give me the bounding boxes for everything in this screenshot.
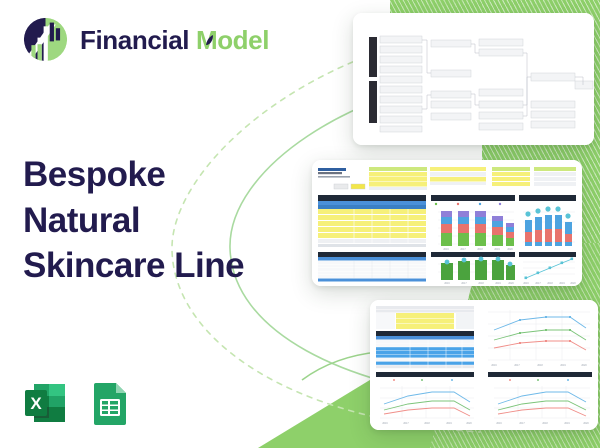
- brand-name-part1: Financial: [80, 25, 189, 55]
- page-title-line3: Skincare Line: [23, 243, 283, 289]
- svg-text:2017: 2017: [460, 248, 466, 251]
- svg-text:2018: 2018: [478, 282, 484, 285]
- svg-text:2016: 2016: [444, 282, 450, 285]
- svg-text:2017: 2017: [535, 282, 541, 285]
- svg-text:2016: 2016: [443, 248, 449, 251]
- page-title-line1: Bespoke: [23, 152, 283, 198]
- filetype-icons: X: [21, 379, 134, 427]
- dupont-flowchart-card[interactable]: [353, 13, 594, 145]
- dashboard-thumbnail: 20162017 201820192020: [312, 160, 582, 286]
- svg-text:2019: 2019: [560, 364, 566, 367]
- svg-text:2016: 2016: [496, 422, 502, 425]
- google-sheets-icon[interactable]: [86, 379, 134, 427]
- charts-thumbnail: 20162017 201820192020: [370, 300, 598, 430]
- svg-text:2020: 2020: [508, 282, 514, 285]
- svg-text:2019: 2019: [564, 422, 570, 425]
- svg-text:2018: 2018: [547, 282, 553, 285]
- svg-text:2020: 2020: [570, 282, 576, 285]
- svg-text:2016: 2016: [491, 364, 497, 367]
- svg-text:2018: 2018: [477, 248, 483, 251]
- svg-text:2020: 2020: [466, 422, 472, 425]
- svg-text:2017: 2017: [461, 282, 467, 285]
- brand-logo[interactable]: Financial Model: [22, 16, 269, 63]
- svg-text:2017: 2017: [403, 422, 409, 425]
- brand-wordmark: Financial Model: [80, 27, 269, 53]
- svg-text:2016: 2016: [523, 282, 529, 285]
- svg-text:2017: 2017: [514, 364, 520, 367]
- flowchart-thumbnail: [353, 13, 594, 145]
- svg-text:2019: 2019: [495, 282, 501, 285]
- svg-text:2019: 2019: [559, 282, 565, 285]
- svg-text:X: X: [30, 394, 42, 413]
- svg-text:2019: 2019: [446, 422, 452, 425]
- svg-text:2018: 2018: [542, 422, 548, 425]
- svg-text:2017: 2017: [519, 422, 525, 425]
- svg-text:2018: 2018: [424, 422, 430, 425]
- svg-text:2020: 2020: [581, 364, 587, 367]
- brand-name-part2: Model: [196, 27, 269, 53]
- page-title: Bespoke Natural Skincare Line: [23, 152, 283, 289]
- svg-text:2016: 2016: [382, 422, 388, 425]
- svg-text:2019: 2019: [494, 248, 500, 251]
- svg-text:2018: 2018: [537, 364, 543, 367]
- promo-slide: Financial Model Bespoke Natural Skincare…: [0, 0, 600, 448]
- financial-model-circle-bars-logo: [22, 16, 69, 63]
- financial-dashboard-card[interactable]: 20162017 201820192020: [312, 160, 582, 286]
- charts-card[interactable]: 20162017 201820192020: [370, 300, 598, 430]
- svg-text:2020: 2020: [507, 248, 513, 251]
- excel-icon[interactable]: X: [21, 379, 69, 427]
- svg-text:2020: 2020: [583, 422, 589, 425]
- leaf-icon: [203, 34, 215, 46]
- page-title-line2: Natural: [23, 198, 283, 244]
